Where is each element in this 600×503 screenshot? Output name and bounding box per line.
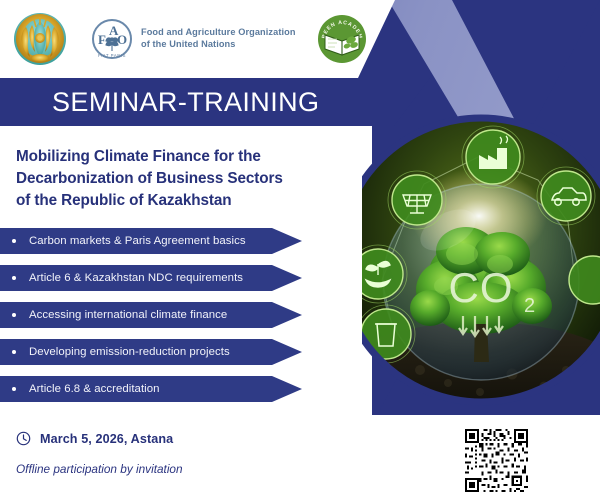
- svg-text:F: F: [98, 32, 106, 47]
- svg-text:2: 2: [524, 295, 535, 317]
- fao-organization-name: Food and Agriculture Organization of the…: [141, 27, 296, 50]
- kazakhstan-state-emblem-icon: [12, 11, 68, 67]
- seminar-title-text: SEMINAR-TRAINING: [52, 87, 319, 118]
- participation-note: Offline participation by invitation: [16, 462, 183, 476]
- event-date-row: March 5, 2026, Astana: [16, 431, 173, 446]
- clock-icon: [16, 431, 31, 446]
- svg-text:O: O: [117, 32, 127, 47]
- list-item: Article 6.8 & accreditation: [0, 376, 302, 402]
- bullet-dot-icon: [12, 387, 16, 391]
- list-item-label: Accessing international climate finance: [29, 309, 227, 321]
- list-item-label: Carbon markets & Paris Agreement basics: [29, 235, 246, 247]
- topic-list: Carbon markets & Paris Agreement basics …: [0, 228, 302, 413]
- seminar-title-banner: SEMINAR-TRAINING: [0, 78, 430, 126]
- seminar-subtitle: Mobilizing Climate Finance for the Decar…: [16, 146, 346, 212]
- poster-canvas: CO 2: [0, 0, 600, 503]
- fao-logo: F A O FIAT PANIS Food and Agriculture Or…: [90, 17, 296, 61]
- subtitle-line-3: of the Republic of Kazakhstan: [16, 190, 346, 212]
- green-academy-logo-icon: GREEN ACADEMY: [316, 13, 368, 65]
- event-date-location: March 5, 2026, Astana: [40, 432, 173, 446]
- bullet-dot-icon: [12, 239, 16, 243]
- list-item: Article 6 & Kazakhstan NDC requirements: [0, 265, 302, 291]
- list-item-label: Developing emission-reduction projects: [29, 346, 230, 358]
- list-item: Accessing international climate finance: [0, 302, 302, 328]
- bullet-dot-icon: [12, 276, 16, 280]
- fao-emblem-icon: F A O FIAT PANIS: [90, 17, 134, 61]
- circle-artwork: CO 2: [362, 112, 600, 408]
- qr-code[interactable]: [463, 427, 530, 494]
- svg-text:CO: CO: [449, 264, 514, 311]
- subtitle-line-1: Mobilizing Climate Finance for the: [16, 146, 346, 168]
- subtitle-line-2: Decarbonization of Business Sectors: [16, 168, 346, 190]
- svg-text:FIAT PANIS: FIAT PANIS: [98, 53, 126, 58]
- bullet-dot-icon: [12, 350, 16, 354]
- list-item: Developing emission-reduction projects: [0, 339, 302, 365]
- list-item-label: Article 6 & Kazakhstan NDC requirements: [29, 272, 243, 284]
- header-logo-bar: F A O FIAT PANIS Food and Agriculture Or…: [0, 0, 360, 78]
- list-item: Carbon markets & Paris Agreement basics: [0, 228, 302, 254]
- bullet-dot-icon: [12, 313, 16, 317]
- list-item-label: Article 6.8 & accreditation: [29, 383, 160, 395]
